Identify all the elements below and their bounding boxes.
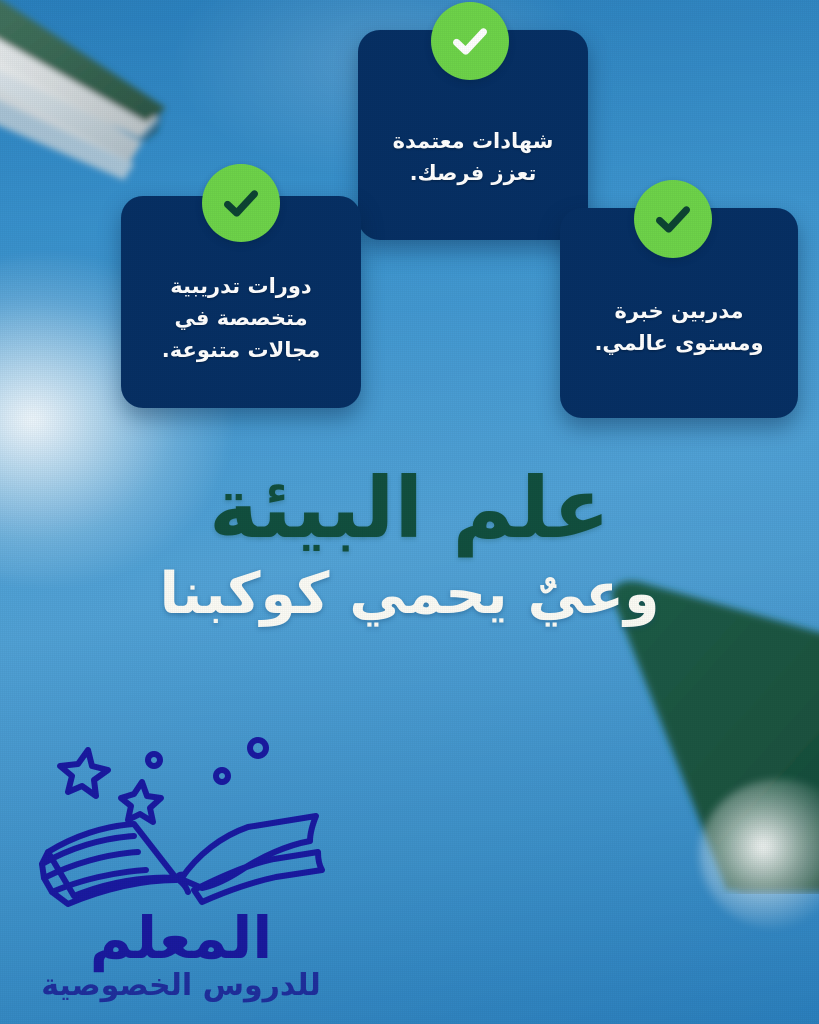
headline-block: علم البيئة وعيٌ يحمي كوكبنا bbox=[0, 466, 819, 628]
feature-card-text: دورات تدريبية متخصصة في مجالات متنوعة. bbox=[146, 237, 336, 367]
logo-name: المعلم bbox=[26, 909, 336, 967]
poster-canvas: شهادات معتمدة تعزز فرصك. دورات تدريبية م… bbox=[0, 0, 819, 1024]
check-icon bbox=[431, 2, 509, 80]
feature-card-text: مدربين خبرة ومستوى عالمي. bbox=[578, 266, 779, 360]
feature-card-text: شهادات معتمدة تعزز فرصك. bbox=[377, 80, 570, 190]
feature-cards: شهادات معتمدة تعزز فرصك. دورات تدريبية م… bbox=[0, 0, 819, 430]
poster-subtitle: وعيٌ يحمي كوكبنا bbox=[0, 562, 819, 628]
open-book-with-stars-icon bbox=[26, 728, 336, 913]
logo-tagline: للدروس الخصوصية bbox=[26, 969, 336, 1002]
brand-logo[interactable]: المعلم للدروس الخصوصية bbox=[16, 728, 336, 1024]
check-icon bbox=[202, 164, 280, 242]
check-icon bbox=[634, 180, 712, 258]
poster-title: علم البيئة bbox=[0, 466, 819, 550]
